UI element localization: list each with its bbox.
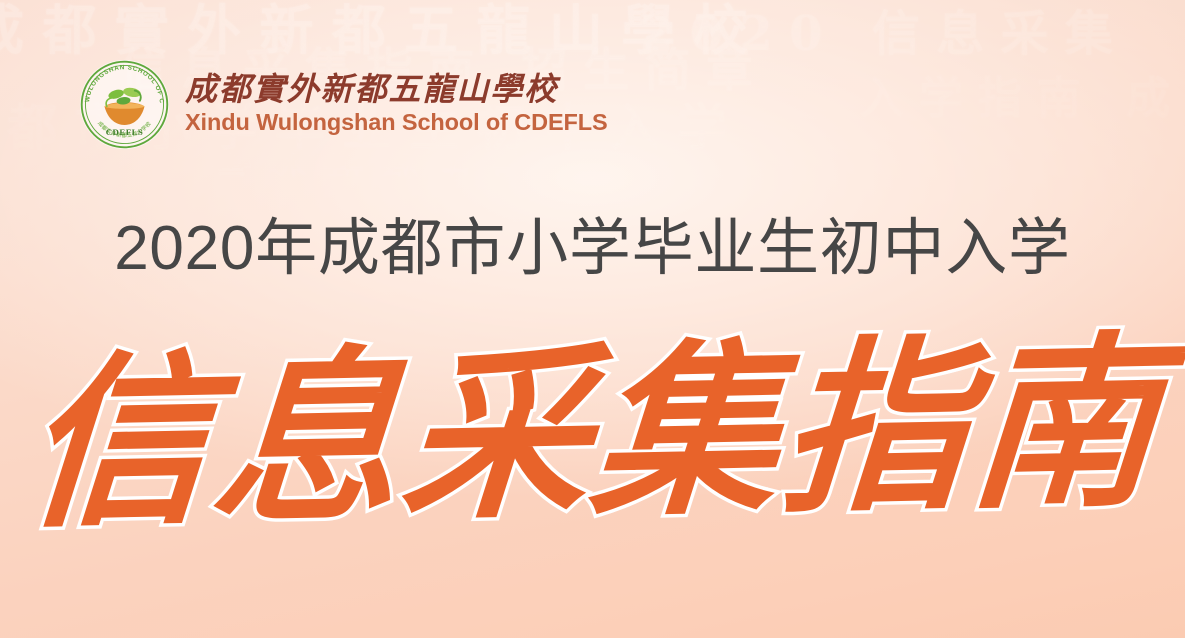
school-seal-logo-icon: XINDU WULONGSHAN SCHOOL OF CDEFLS 成都实外新都… (78, 58, 171, 151)
svg-text:CDEFLS: CDEFLS (106, 127, 144, 137)
poster-subtitle: 2020年成都市小学毕业生初中入学 (0, 216, 1185, 281)
poster-headline-container: 信息采集指南 (0, 318, 1185, 548)
poster-headline: 信息采集指南 (19, 329, 1166, 537)
watermark-row: 2020 信息采集 (640, 0, 1129, 64)
poster-canvas: 成都實外新都五龍山學校 信息采集指南 招生简章 成都市小学毕业生初中入学 實外新… (0, 0, 1185, 638)
school-brand-header: XINDU WULONGSHAN SCHOOL OF CDEFLS 成都实外新都… (78, 58, 608, 151)
watermark-row: 成都實外新都五龍山學校 (0, 0, 766, 65)
watermark-row: 入学指南 成都 (860, 62, 1185, 126)
school-name-english: Xindu Wulongshan School of CDEFLS (185, 109, 608, 137)
school-name-block: 成都實外新都五龍山學校 Xindu Wulongshan School of C… (185, 72, 608, 137)
school-name-chinese: 成都實外新都五龍山學校 (185, 72, 608, 108)
